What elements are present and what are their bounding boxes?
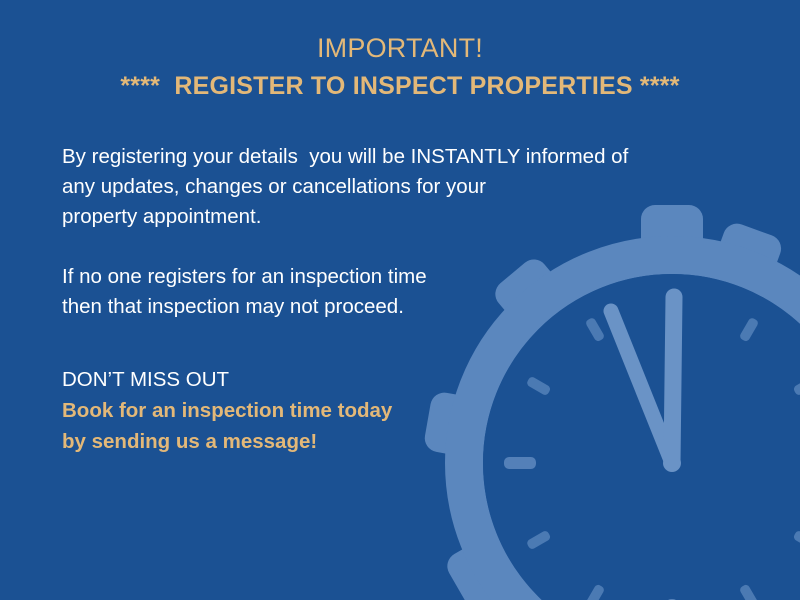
page-subtitle: **** REGISTER TO INSPECT PROPERTIES **** (0, 66, 800, 106)
call-to-action-block: DON’T MISS OUT Book for an inspection ti… (62, 364, 582, 457)
paragraph-1-line-2: any updates, changes or cancellations fo… (62, 172, 722, 202)
cta-line-book: Book for an inspection time today (62, 395, 582, 426)
cta-line-message: by sending us a message! (62, 426, 582, 457)
paragraph-spacer (62, 232, 722, 262)
cta-headline: DON’T MISS OUT (62, 364, 582, 395)
page-title: IMPORTANT! (0, 30, 800, 66)
paragraph-2-line-2: then that inspection may not proceed. (62, 292, 722, 322)
promo-slide: IMPORTANT! **** REGISTER TO INSPECT PROP… (0, 0, 800, 600)
text-layer: IMPORTANT! **** REGISTER TO INSPECT PROP… (0, 0, 800, 600)
body-copy: By registering your details you will be … (62, 142, 722, 322)
paragraph-2-line-1: If no one registers for an inspection ti… (62, 262, 722, 292)
heading-block: IMPORTANT! **** REGISTER TO INSPECT PROP… (0, 30, 800, 106)
paragraph-1-line-1: By registering your details you will be … (62, 142, 722, 172)
paragraph-1-line-3: property appointment. (62, 202, 722, 232)
